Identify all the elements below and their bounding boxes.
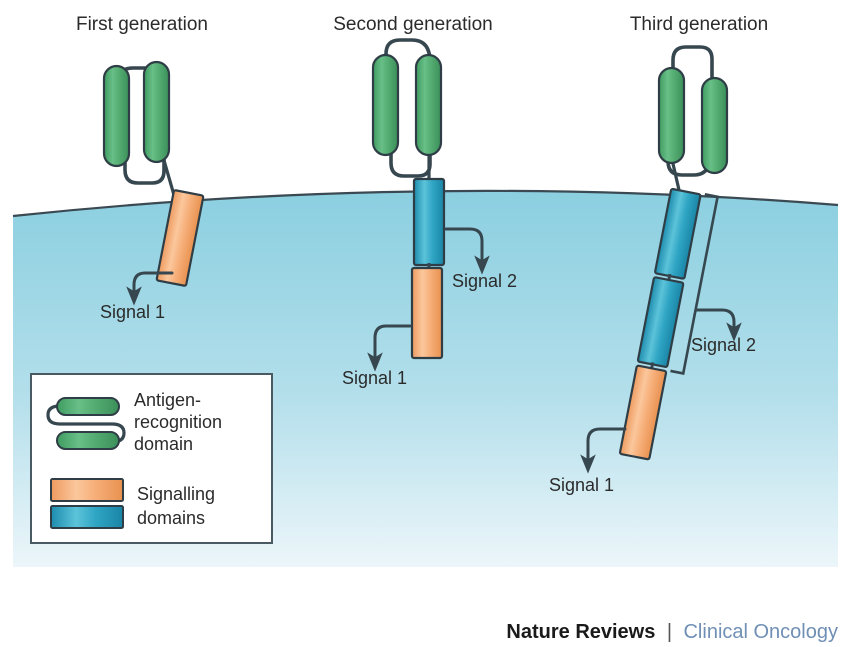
first-generation-title: First generation <box>76 14 208 35</box>
third-generation-signal-1-label: Signal 1 <box>549 475 614 495</box>
antigen-recognition-capsule-left <box>373 55 398 155</box>
brand-sub-text: Clinical Oncology <box>683 621 838 643</box>
brand-text-group: Nature Reviews | Clinical Oncology <box>506 621 838 643</box>
brand-main-text: Nature Reviews <box>506 621 655 643</box>
brand-separator: | <box>667 621 672 643</box>
legend-antigen-line-3: domain <box>134 434 193 454</box>
legend-box: Antigen- recognition domain Signalling d… <box>31 374 272 543</box>
antigen-recognition-capsule-right <box>416 55 441 155</box>
second-generation-signal-2-label: Signal 2 <box>452 271 517 291</box>
first-generation-signal-1-label: Signal 1 <box>100 302 165 322</box>
legend-capsule-bottom <box>57 432 119 449</box>
figure-root: First generation Signal 1 Second generat… <box>0 0 852 647</box>
legend-swatch-antigen-recognition <box>48 398 124 449</box>
legend-bar-teal <box>51 506 123 528</box>
antigen-recognition-capsule-right <box>144 62 169 162</box>
antigen-recognition-capsule-right <box>702 78 727 173</box>
car-generations-diagram: First generation Signal 1 Second generat… <box>0 0 852 647</box>
antigen-recognition-capsule-left <box>659 68 684 163</box>
legend-bar-orange <box>51 479 123 501</box>
signalling-domain-orange <box>412 268 442 358</box>
legend-antigen-line-1: Antigen- <box>134 390 201 410</box>
legend-antigen-line-2: recognition <box>134 412 222 432</box>
third-generation-title: Third generation <box>630 14 768 35</box>
second-generation-title: Second generation <box>333 14 493 35</box>
legend-signalling-line-2: domains <box>137 508 205 528</box>
second-generation-signal-1-label: Signal 1 <box>342 368 407 388</box>
branding-footer: Nature Reviews | Clinical Oncology <box>506 621 838 643</box>
legend-capsule-top <box>57 398 119 415</box>
third-generation-signal-2-label: Signal 2 <box>691 335 756 355</box>
legend-signalling-line-1: Signalling <box>137 484 215 504</box>
antigen-recognition-capsule-left <box>104 66 129 166</box>
signalling-domain-teal <box>414 179 444 265</box>
